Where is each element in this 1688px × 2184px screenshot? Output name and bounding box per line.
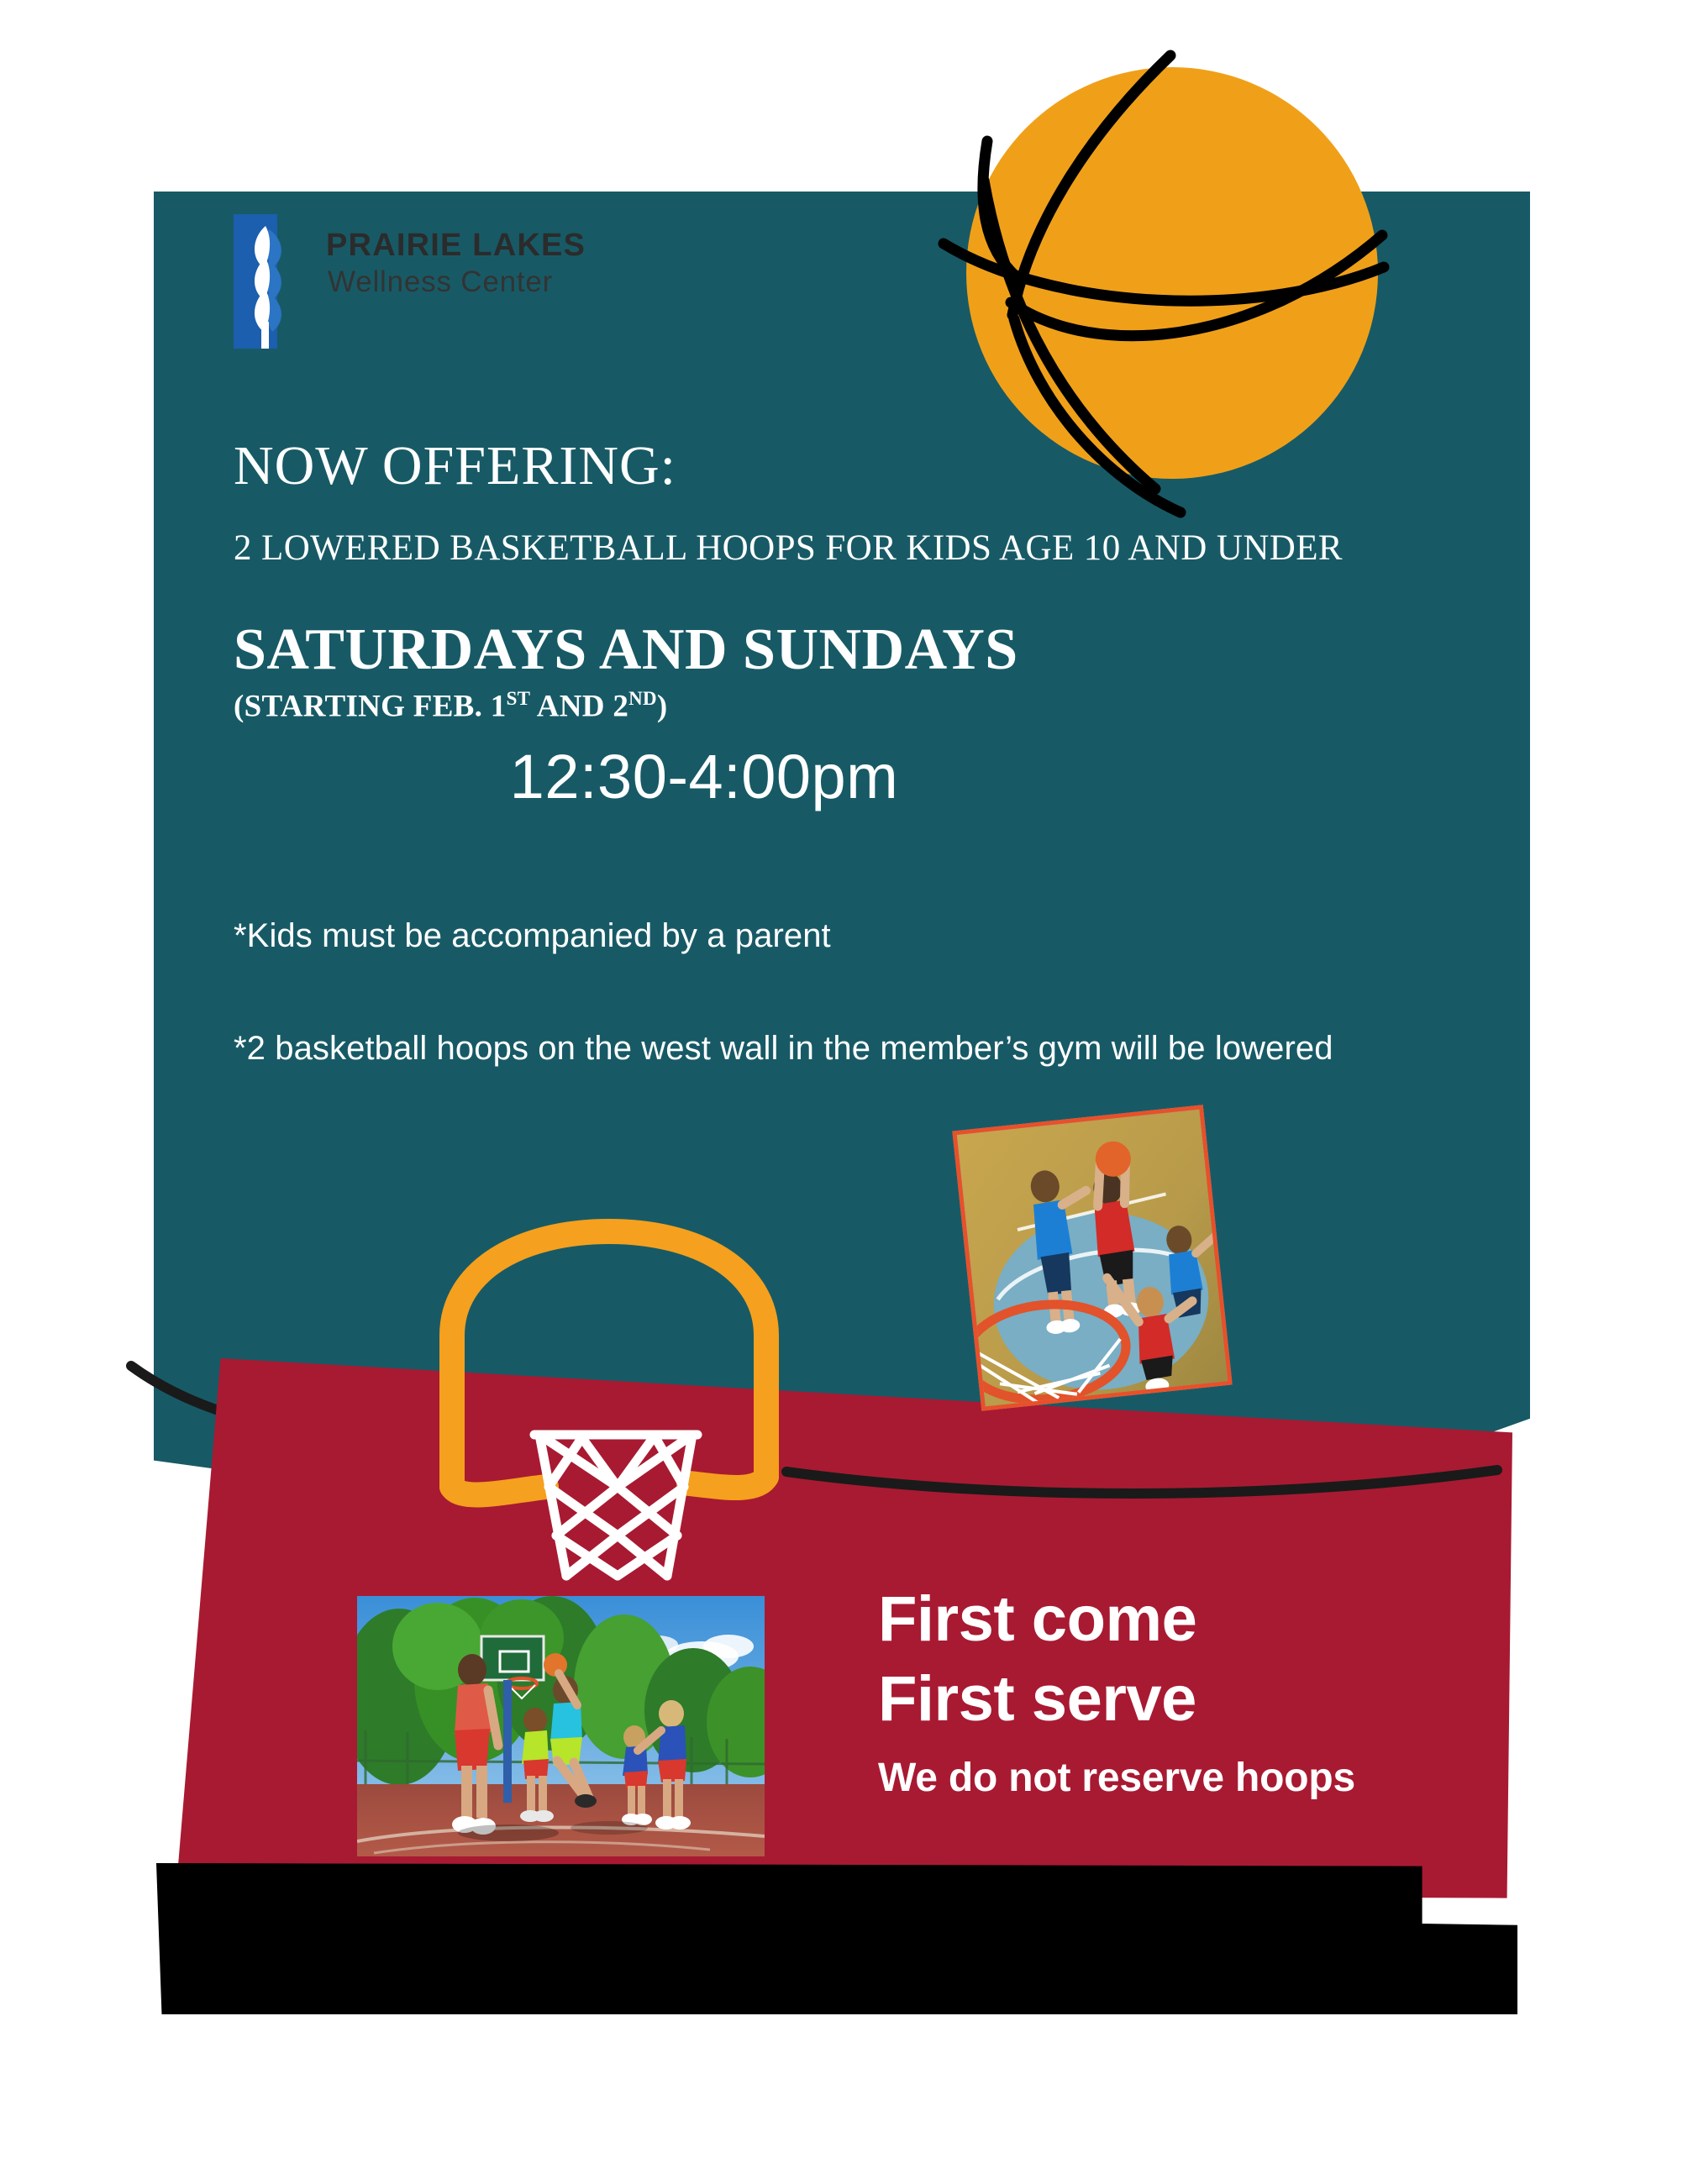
cta-line-1: First come	[878, 1579, 1466, 1659]
time-range: 12:30-4:00pm	[234, 746, 1427, 808]
wheat-stalk-icon	[234, 214, 306, 349]
outdoor-basketball-kids-photo	[357, 1596, 765, 1856]
basketball-hoop-icon	[412, 1210, 807, 1588]
cta-block: First come First serve We do not reserve…	[878, 1579, 1466, 1803]
indoor-basketball-kids-photo	[952, 1105, 1232, 1411]
starting-prefix: (STARTING FEB. 1	[234, 689, 507, 723]
black-footer-band	[156, 1863, 1517, 2014]
note-hoop-location: *2 basketball hoops on the west wall in …	[234, 1028, 1427, 1068]
logo-subtitle: Wellness Center	[328, 266, 586, 299]
cta-line-2: First serve	[878, 1659, 1466, 1739]
ordinal-first: ST	[507, 688, 531, 709]
days-heading: SATURDAYS AND SUNDAYS	[234, 621, 1427, 680]
accent-stroke-icon	[781, 1462, 1504, 1520]
flyer-page: PRAIRIE LAKES Wellness Center NOW OFFERI…	[0, 0, 1688, 2184]
starting-middle: AND 2	[530, 689, 628, 723]
page-title: NOW OFFERING:	[234, 437, 1427, 495]
cta-subtext: We do not reserve hoops	[878, 1754, 1466, 1803]
ordinal-second: ND	[628, 688, 657, 709]
note-parent-required: *Kids must be accompanied by a parent	[234, 916, 1427, 956]
starting-date: (STARTING FEB. 1ST AND 2ND)	[234, 688, 1427, 724]
main-content: NOW OFFERING: 2 LOWERED BASKETBALL HOOPS…	[234, 437, 1427, 1068]
logo-title: PRAIRIE LAKES	[326, 229, 586, 261]
brand-logo: PRAIRIE LAKES Wellness Center	[234, 214, 654, 349]
starting-suffix: )	[657, 689, 668, 723]
subheading: 2 LOWERED BASKETBALL HOOPS FOR KIDS AGE …	[234, 528, 1427, 568]
